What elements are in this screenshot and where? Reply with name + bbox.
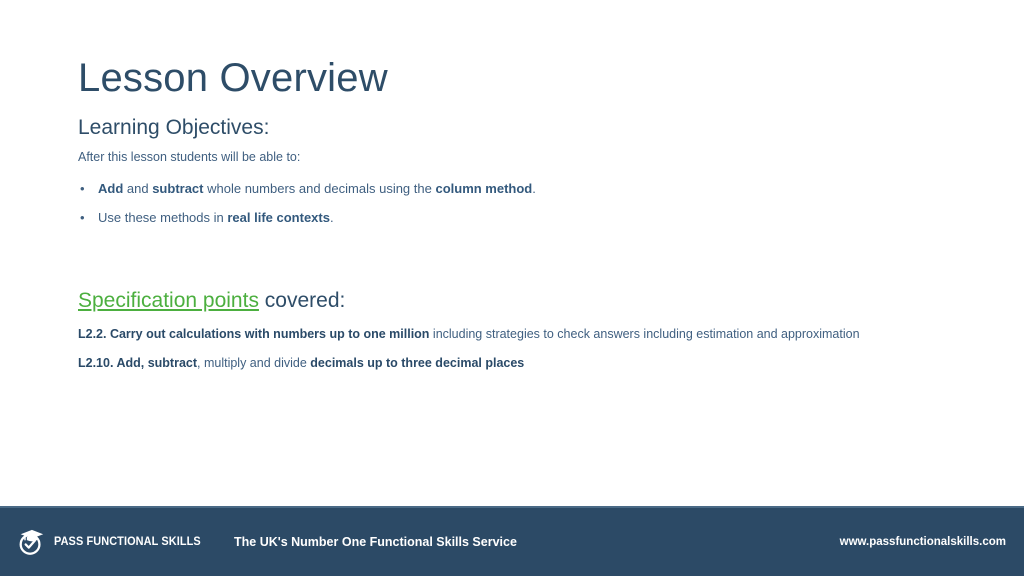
slide-canvas: Lesson Overview Learning Objectives: Aft… xyxy=(0,0,1024,576)
specification-points-heading-rest: covered: xyxy=(259,289,345,312)
list-item: • Use these methods in real life context… xyxy=(78,209,938,227)
specification-points-heading: Specification points covered: xyxy=(78,288,948,314)
bullet-icon: • xyxy=(80,209,85,227)
page-title: Lesson Overview xyxy=(78,55,388,101)
specification-points-link-text: Specification points xyxy=(78,289,259,312)
learning-objectives-heading: Learning Objectives: xyxy=(78,115,938,141)
spec-line-l2-2: L2.2. Carry out calculations with number… xyxy=(78,326,948,343)
brand-lockup: PASS FUNCTIONAL SKILLS xyxy=(16,527,208,557)
spec-line-l2-10: L2.10. Add, subtract, multiply and divid… xyxy=(78,355,948,372)
learning-objectives-intro: After this lesson students will be able … xyxy=(78,149,938,165)
footer-website-url: www.passfunctionalskills.com xyxy=(840,536,1006,548)
specification-points-section: Specification points covered: L2.2. Carr… xyxy=(78,288,948,384)
learning-objectives-list: • Add and subtract whole numbers and dec… xyxy=(78,180,938,227)
graduation-cap-check-circle-icon xyxy=(16,527,46,557)
bullet-icon: • xyxy=(80,180,85,198)
footer-tagline: The UK's Number One Functional Skills Se… xyxy=(234,535,517,549)
learning-objectives-section: Learning Objectives: After this lesson s… xyxy=(78,115,938,239)
brand-name: PASS FUNCTIONAL SKILLS xyxy=(54,536,201,548)
list-item: • Add and subtract whole numbers and dec… xyxy=(78,180,938,198)
list-item-text: Use these methods in real life contexts. xyxy=(98,210,334,225)
list-item-text: Add and subtract whole numbers and decim… xyxy=(98,181,536,196)
slide-footer: PASS FUNCTIONAL SKILLS The UK's Number O… xyxy=(0,506,1024,576)
